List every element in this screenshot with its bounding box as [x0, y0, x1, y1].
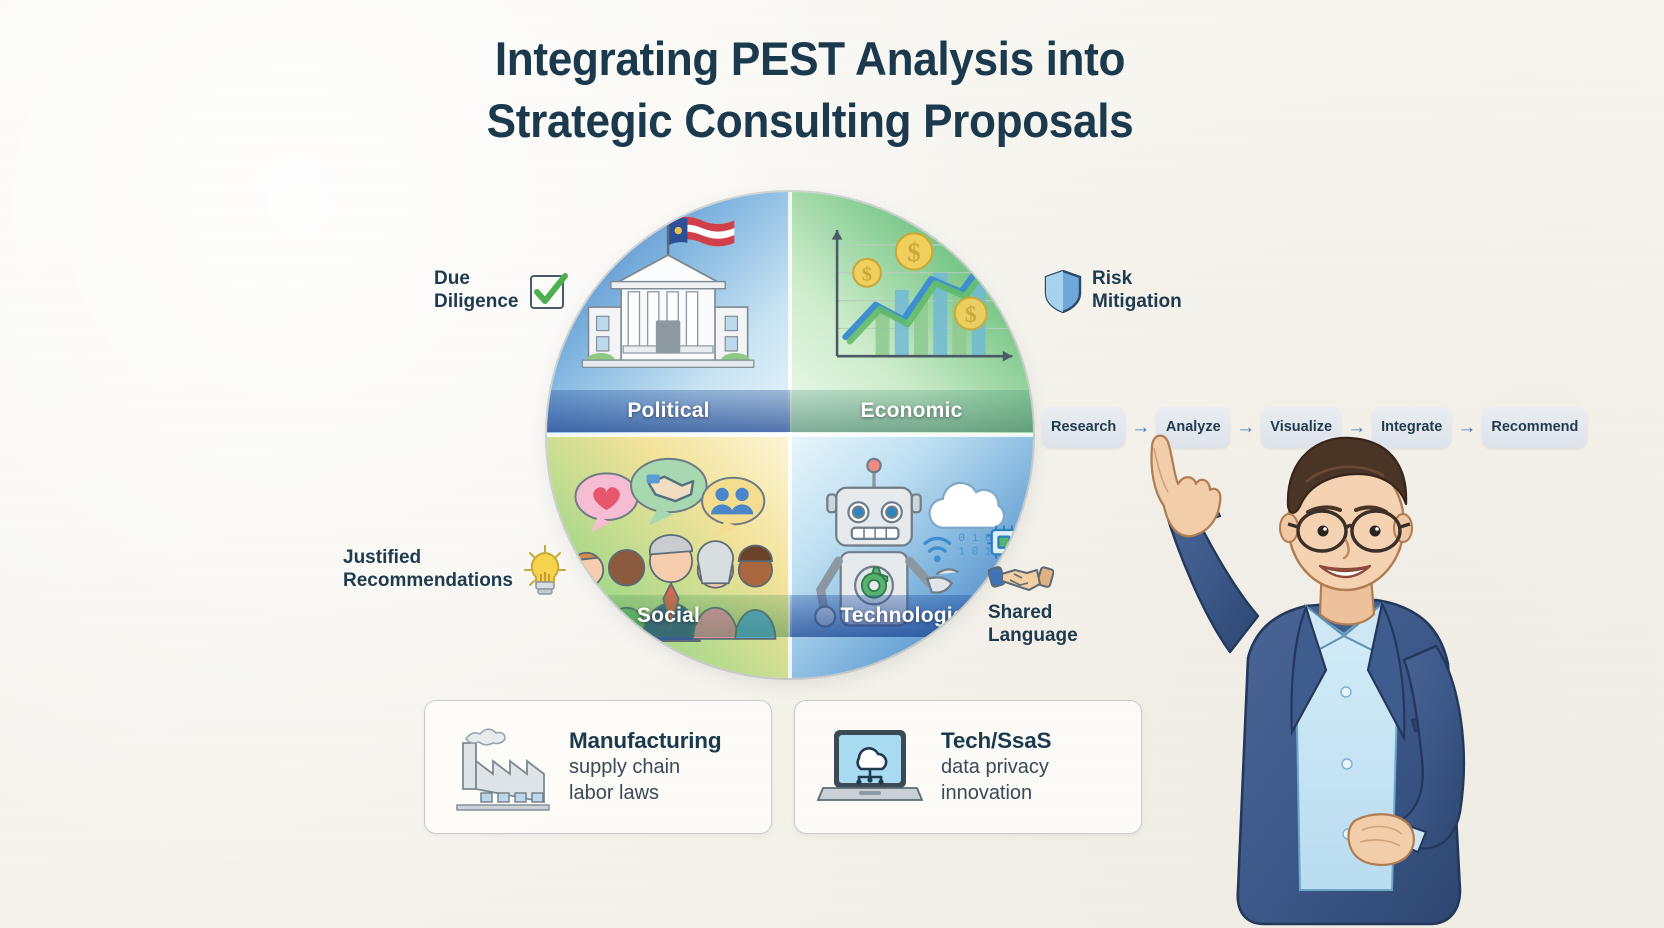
card-tech-saas-line-1: data privacy — [941, 754, 1051, 780]
quadrant-label-political: Political — [547, 399, 790, 423]
svg-text:$: $ — [964, 302, 976, 328]
annotation-due-diligence-label: Due Diligence — [434, 268, 518, 314]
annotation-justified-recommendations[interactable]: Justified Recommendations — [343, 544, 568, 596]
green-checkmark-icon — [527, 270, 569, 312]
annotation-justified-recommendations-label: Justified Recommendations — [343, 547, 513, 593]
annotation-due-diligence[interactable]: Due Diligence — [434, 268, 569, 314]
growth-chart-icon: $ $ $ — [805, 211, 1019, 386]
annotation-risk-mitigation[interactable]: Risk Mitigation — [1043, 268, 1182, 314]
svg-text:$: $ — [907, 237, 920, 267]
page-title: Integrating PEST Analysis into Strategic… — [387, 28, 1233, 152]
card-manufacturing-line-2: labor laws — [569, 780, 721, 806]
quadrant-technological[interactable]: 0 1 01 0 1 — [790, 435, 1033, 678]
svg-text:0 1 0: 0 1 0 — [958, 533, 991, 545]
card-manufacturing[interactable]: Manufacturing supply chain labor laws — [424, 700, 772, 834]
infographic-canvas: Integrating PEST Analysis into Strategic… — [0, 0, 1664, 928]
annotation-risk-mitigation-label: Risk Mitigation — [1092, 268, 1182, 314]
government-building-icon — [566, 207, 770, 387]
card-tech-saas[interactable]: Tech/SsaS data privacy innovation — [794, 700, 1142, 834]
quadrant-label-economic: Economic — [790, 399, 1033, 423]
card-manufacturing-title: Manufacturing — [569, 728, 721, 755]
wheel-divider-horizontal — [547, 433, 1033, 437]
pest-wheel: $ $ $ — [547, 192, 1033, 678]
factory-icon — [445, 721, 553, 813]
presenter-illustration — [1130, 420, 1560, 928]
card-manufacturing-line-1: supply chain — [569, 754, 721, 780]
card-tech-saas-title: Tech/SsaS — [941, 728, 1051, 755]
svg-text:1 0 1: 1 0 1 — [958, 546, 992, 558]
card-tech-saas-line-2: innovation — [941, 780, 1051, 806]
quadrant-label-technological: Technological — [790, 604, 1033, 628]
quadrant-label-social: Social — [547, 604, 790, 628]
svg-text:$: $ — [862, 264, 872, 286]
card-manufacturing-text: Manufacturing supply chain labor laws — [569, 728, 721, 807]
card-tech-saas-text: Tech/SsaS data privacy innovation — [941, 728, 1051, 807]
shield-icon — [1043, 268, 1083, 314]
flow-step-research[interactable]: Research — [1042, 407, 1125, 448]
laptop-cloud-icon — [815, 722, 925, 812]
quadrant-social[interactable] — [547, 435, 790, 678]
